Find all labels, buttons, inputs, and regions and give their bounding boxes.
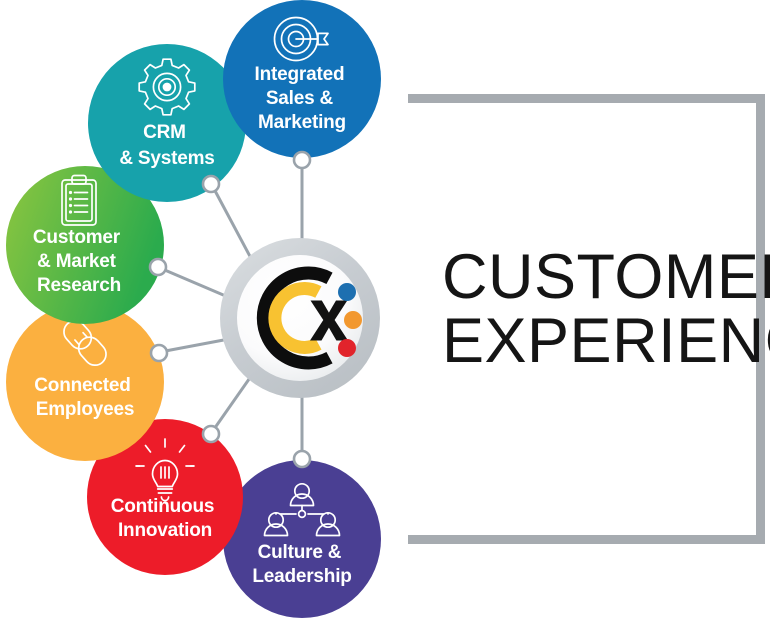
- node-culture-leadership[interactable]: Culture & Leadership: [223, 460, 381, 618]
- cx-logo-hub[interactable]: [220, 238, 380, 398]
- connector-dot-crm-systems[interactable]: [203, 176, 219, 192]
- connector-dot-integrated-sales-marketing[interactable]: [294, 152, 310, 168]
- node-label-customer-market-research: Customer & Market Research: [33, 227, 125, 296]
- node-integrated-sales-marketing[interactable]: Integrated Sales & Marketing: [223, 0, 381, 158]
- connector-line-connected-employees: [160, 339, 229, 352]
- diagram-canvas: Culture & Leadership Continuous Innovati…: [0, 0, 770, 622]
- node-crm-systems[interactable]: CRM & Systems: [88, 44, 246, 202]
- connector-dot-customer-market-research[interactable]: [150, 259, 166, 275]
- frame-top-bar: [408, 94, 765, 103]
- logo-dot-blue: [338, 283, 356, 301]
- node-connected-employees[interactable]: Connected Employees: [6, 303, 164, 461]
- connector-line-continuous-innovation: [212, 372, 254, 432]
- connector-line-customer-market-research: [160, 268, 228, 297]
- connector-dot-continuous-innovation[interactable]: [203, 426, 219, 442]
- connector-line-crm-systems: [213, 187, 253, 262]
- connector-dot-culture-leadership[interactable]: [294, 451, 310, 467]
- node-label-integrated-sales-marketing: Integrated Sales & Marketing: [255, 64, 350, 133]
- logo-dot-red: [338, 339, 356, 357]
- connector-dot-connected-employees[interactable]: [151, 345, 167, 361]
- customer-experience-diagram: Culture & Leadership Continuous Innovati…: [0, 0, 770, 622]
- frame-bottom-bar: [408, 535, 765, 544]
- page-title: CUSTOMER EXPERIENCE: [442, 242, 770, 376]
- logo-dot-orange: [344, 311, 362, 329]
